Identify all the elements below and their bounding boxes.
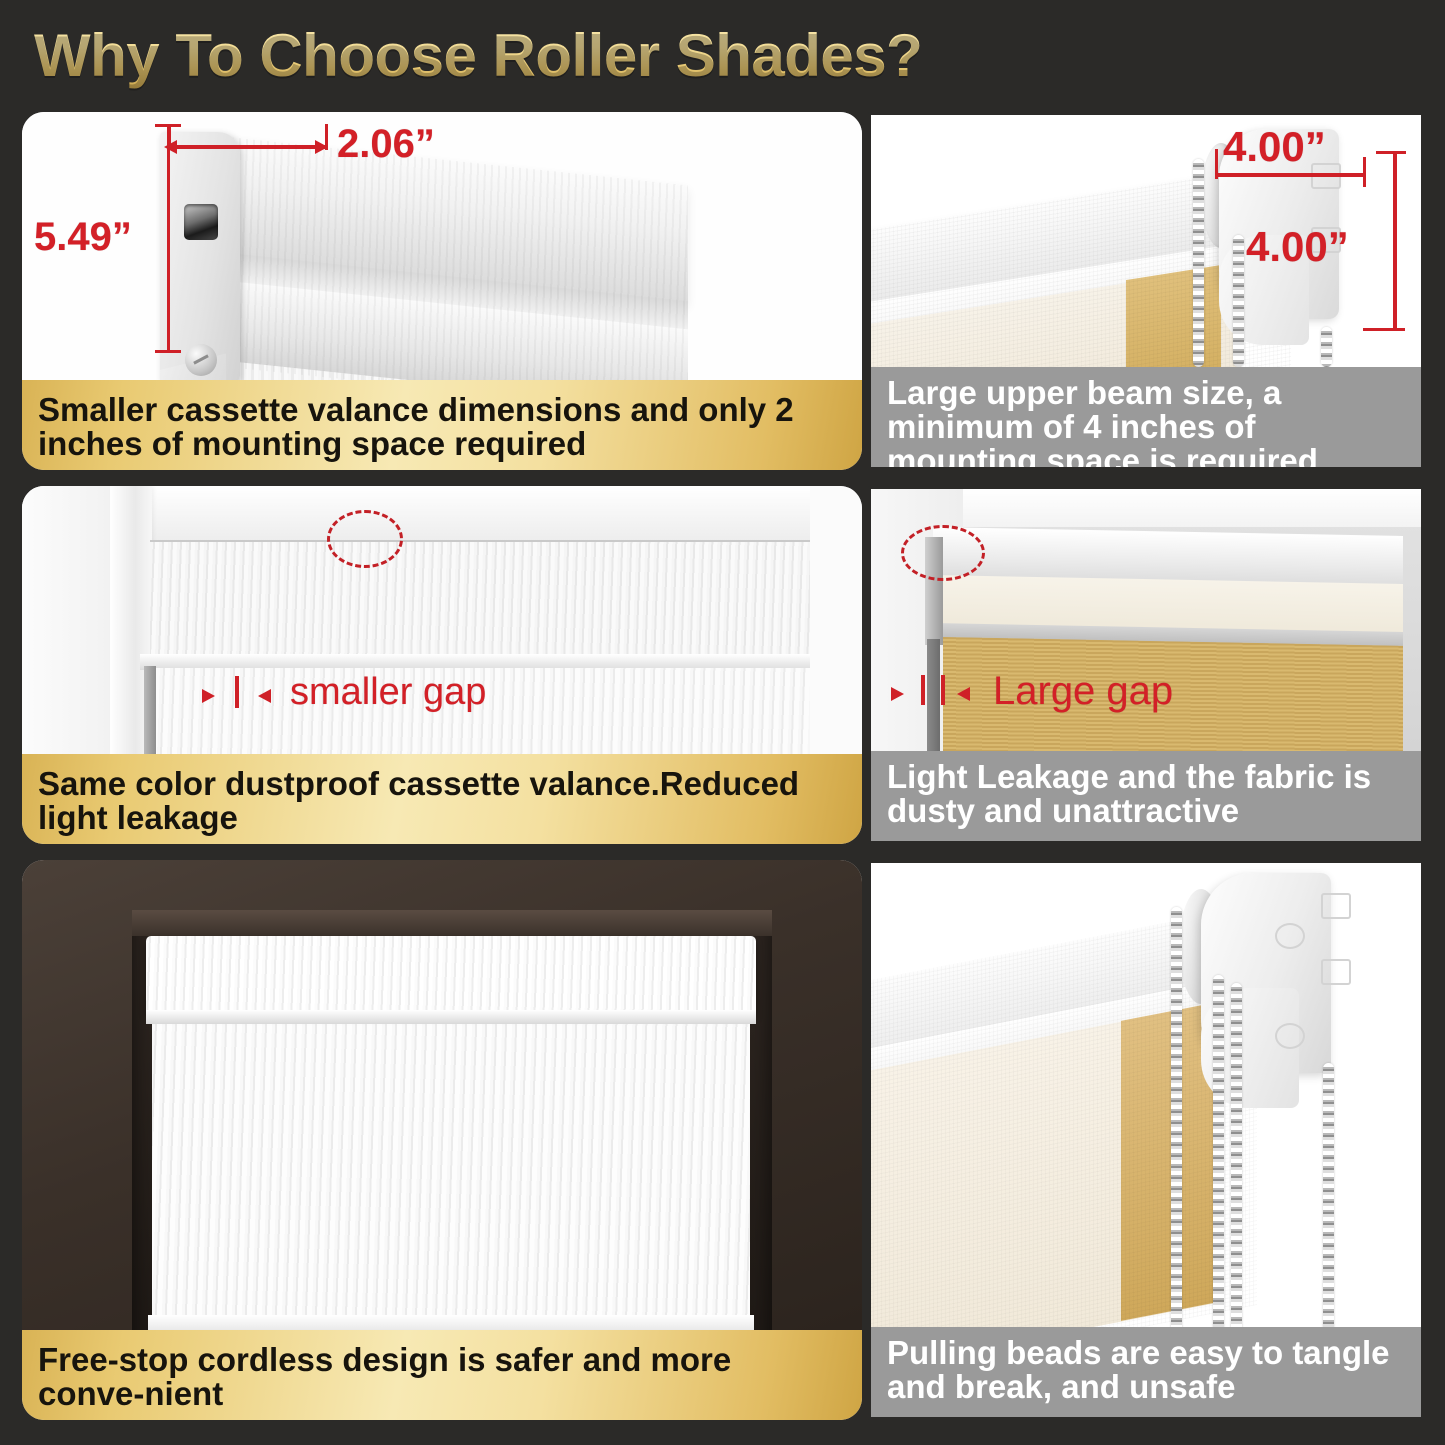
window-head-frame — [110, 486, 810, 544]
panel-2-caption-text: Large upper beam size, a minimum of 4 in… — [887, 376, 1407, 470]
cassette-valance-lip — [146, 1010, 756, 1024]
highlight-circle — [901, 525, 985, 581]
light-gap-shadow — [927, 639, 940, 751]
panel-4-caption-text: Light Leakage and the fabric is dusty an… — [887, 760, 1407, 828]
gap-label: smaller gap — [290, 671, 486, 714]
width-dim-tick-right — [325, 124, 328, 150]
height-dim-line — [167, 124, 170, 352]
width-dim-line — [1216, 173, 1366, 177]
panel-dustproof-cassette: smaller gap Same color dustproof cassett… — [22, 486, 862, 844]
panel-3-caption-text: Same color dustproof cassette valance.Re… — [38, 767, 846, 835]
panel-6-photo — [871, 863, 1421, 1333]
bead-chain-right — [1323, 1063, 1334, 1333]
cassette-valance — [146, 936, 756, 1014]
bead-chain-mid — [1213, 975, 1224, 1333]
gap-arrow-right — [258, 689, 271, 703]
gap-label: Large gap — [993, 669, 1173, 714]
gap-arrow-left — [202, 689, 215, 703]
cassette-valance — [150, 540, 810, 660]
screw-icon — [185, 344, 217, 376]
bracket-slot-icon — [184, 204, 218, 240]
gap-marker-line — [235, 676, 239, 708]
panel-smaller-cassette: 2.06” 5.49” Smaller cassette valance dim… — [22, 112, 862, 470]
panel-3-photo: smaller gap — [22, 486, 862, 754]
panel-1-caption-text: Smaller cassette valance dimensions and … — [38, 393, 846, 461]
panel-6-caption-text: Pulling beads are easy to tangle and bre… — [887, 1336, 1407, 1404]
window-top-ledge — [132, 910, 772, 936]
cap-slot-icon — [1321, 893, 1351, 919]
panel-6-caption: Pulling beads are easy to tangle and bre… — [871, 1327, 1421, 1417]
panel-pulling-beads: Pulling beads are easy to tangle and bre… — [868, 860, 1424, 1420]
gap-marker-line-b — [941, 675, 945, 705]
valance-end-cap — [160, 132, 240, 380]
bead-chain-mid-2 — [1231, 983, 1242, 1333]
width-dimension-label: 4.00” — [1223, 123, 1326, 171]
height-dimension-label: 4.00” — [1246, 223, 1349, 271]
height-dim-cap-top — [1376, 151, 1406, 154]
height-dim-line — [1393, 151, 1397, 331]
gap-arrow-right — [957, 687, 970, 701]
width-dim-tick-right — [1363, 157, 1366, 187]
cap-arrow-icon — [1275, 923, 1305, 949]
height-dim-cap-bottom — [155, 350, 181, 353]
height-dim-cap-bottom — [1363, 328, 1405, 331]
panel-large-upper-beam: 4.00” 4.00” Large upper beam size, a min… — [868, 112, 1424, 470]
bead-chain-right — [1321, 327, 1332, 367]
side-rail — [144, 666, 156, 754]
title-bar: Why To Choose Roller Shades? — [0, 0, 1445, 104]
bead-chain-mid — [1233, 235, 1244, 367]
panel-1-caption: Smaller cassette valance dimensions and … — [22, 380, 862, 470]
panel-5-photo — [22, 860, 862, 1330]
width-dim-line — [170, 145, 325, 149]
page-title: Why To Choose Roller Shades? — [34, 21, 922, 90]
bead-chain-left — [1193, 159, 1204, 367]
panel-2-caption: Large upper beam size, a minimum of 4 in… — [871, 367, 1421, 467]
gap-arrow-left — [891, 687, 904, 701]
roller-shade-fabric — [152, 1024, 750, 1324]
shade-bottom-rail — [148, 1315, 754, 1330]
panel-4-photo: Large gap — [871, 489, 1421, 751]
panel-4-caption: Light Leakage and the fabric is dusty an… — [871, 751, 1421, 841]
gap-marker-line-a — [921, 675, 925, 705]
cap-arrow-icon-lower — [1275, 1023, 1305, 1049]
cap-slot-icon-lower — [1321, 959, 1351, 985]
bead-chain-left — [1171, 907, 1182, 1333]
panel-light-leakage: Large gap Light Leakage and the fabric i… — [868, 486, 1424, 844]
height-dimension-label: 5.49” — [34, 215, 132, 260]
panel-cordless-design: Free-stop cordless design is safer and m… — [22, 860, 862, 1420]
height-dim-cap-top — [155, 124, 181, 127]
panel-1-photo: 2.06” 5.49” — [22, 112, 862, 380]
panel-5-caption-text: Free-stop cordless design is safer and m… — [38, 1343, 846, 1411]
highlight-circle — [327, 510, 403, 568]
width-dimension-label: 2.06” — [337, 122, 435, 167]
width-dim-tick-left — [1215, 149, 1218, 179]
panel-3-caption: Same color dustproof cassette valance.Re… — [22, 754, 862, 844]
panel-5-caption: Free-stop cordless design is safer and m… — [22, 1330, 862, 1420]
panel-2-photo: 4.00” 4.00” — [871, 115, 1421, 367]
